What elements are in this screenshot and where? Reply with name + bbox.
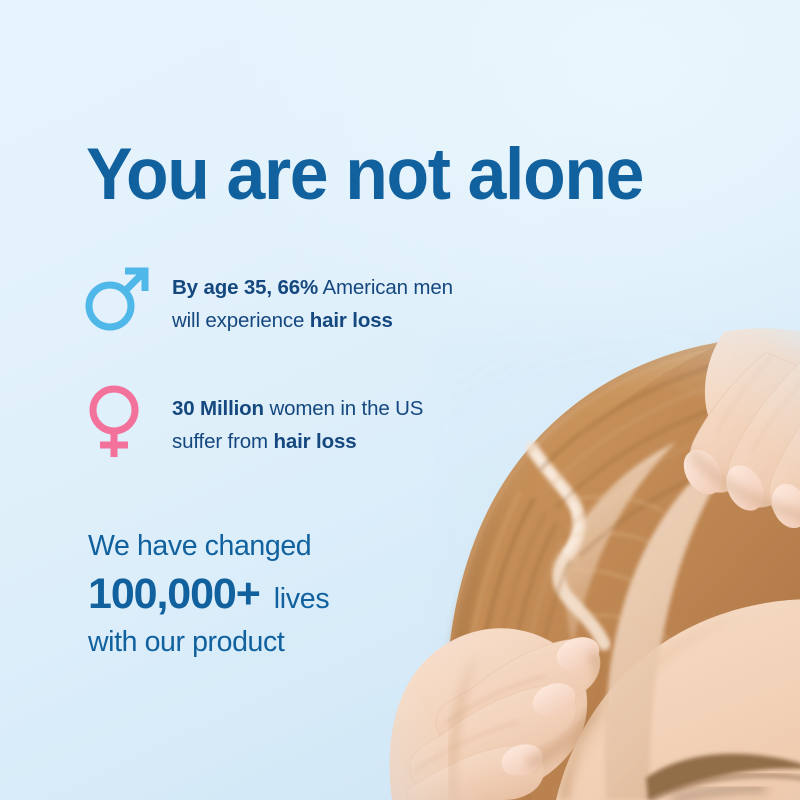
stat-women-line2-rest: suffer from	[172, 430, 274, 453]
closing-statement: We have changed 100,000+ lives with our …	[88, 528, 329, 662]
stat-men-highlight: By age 35, 66%	[172, 276, 318, 299]
mars-symbol-icon	[84, 262, 150, 334]
venus-symbol-icon	[84, 383, 150, 455]
stat-men-line1-rest: American men	[318, 276, 453, 299]
stat-row-women: 30 Million women in the US suffer from h…	[84, 383, 423, 458]
stat-row-men: By age 35, 66% American men will experie…	[84, 262, 453, 337]
stat-text-women: 30 Million women in the US suffer from h…	[172, 383, 423, 458]
hair-loss-promo-poster: You are not alone By age 35, 66% America…	[0, 0, 800, 800]
closing-line-1: We have changed	[88, 528, 329, 566]
stat-women-line2-highlight: hair loss	[274, 430, 357, 453]
lives-changed-number: 100,000+	[88, 568, 260, 620]
stat-women-line1-rest: women in the US	[264, 397, 423, 420]
stat-men-line2-highlight: hair loss	[310, 309, 393, 332]
stat-text-men: By age 35, 66% American men will experie…	[172, 262, 453, 337]
closing-line-2: 100,000+ lives	[88, 568, 329, 620]
stat-men-line2-rest: will experience	[172, 309, 310, 332]
page-title: You are not alone	[86, 138, 643, 211]
stat-women-highlight: 30 Million	[172, 397, 264, 420]
lives-label: lives	[274, 582, 330, 617]
closing-line-3: with our product	[88, 624, 329, 662]
